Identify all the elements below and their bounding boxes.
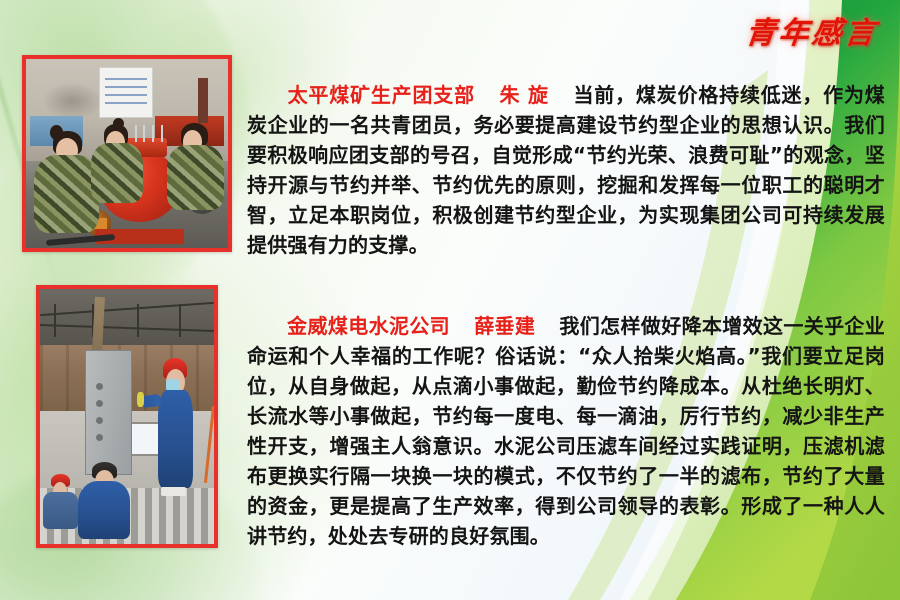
worker-camouflage <box>34 127 99 233</box>
article-1-body: 当前，煤炭价格持续低迷，作为煤炭企业的一名共青团员，务必要提高建设节约型企业的思… <box>247 83 885 257</box>
photo-women-workers-red-sphere <box>22 55 232 252</box>
article-2-author: 薛垂建 <box>474 314 535 338</box>
filter-press-plate <box>85 350 132 474</box>
article-2-body: 我们怎样做好降本增效这一关乎企业命运和个人幸福的工作呢？俗话说：“众人拾柴火焰高… <box>247 314 885 548</box>
wall-notice-board <box>99 67 154 118</box>
roof-truss <box>40 304 214 337</box>
photo-2-scene <box>40 289 214 544</box>
worker-camouflage <box>167 119 224 210</box>
article-1-org: 太平煤矿生产团支部 <box>287 83 475 107</box>
worker-blue-background <box>43 473 78 529</box>
photo-workers-filter-press <box>36 285 218 548</box>
page-title-text: 青年感言 <box>744 8 881 52</box>
worker-camouflage <box>91 119 144 202</box>
worker-blue-crouching <box>78 462 130 539</box>
worker-blue-standing <box>155 355 197 488</box>
article-1: 太平煤矿生产团支部朱 旋当前，煤炭价格持续低迷，作为煤炭企业的一名共青团员，务必… <box>247 80 885 260</box>
wall-post <box>198 78 208 123</box>
photo-1-scene <box>26 59 228 248</box>
article-2: 金威煤电水泥公司薛垂建我们怎样做好降本增效这一关乎企业命运和个人幸福的工作呢？俗… <box>247 311 885 551</box>
article-1-author: 朱 旋 <box>499 83 549 107</box>
article-2-org: 金威煤电水泥公司 <box>287 314 450 338</box>
page-root: 青年感言 <box>0 0 900 600</box>
page-title: 青年感言 <box>746 8 878 52</box>
